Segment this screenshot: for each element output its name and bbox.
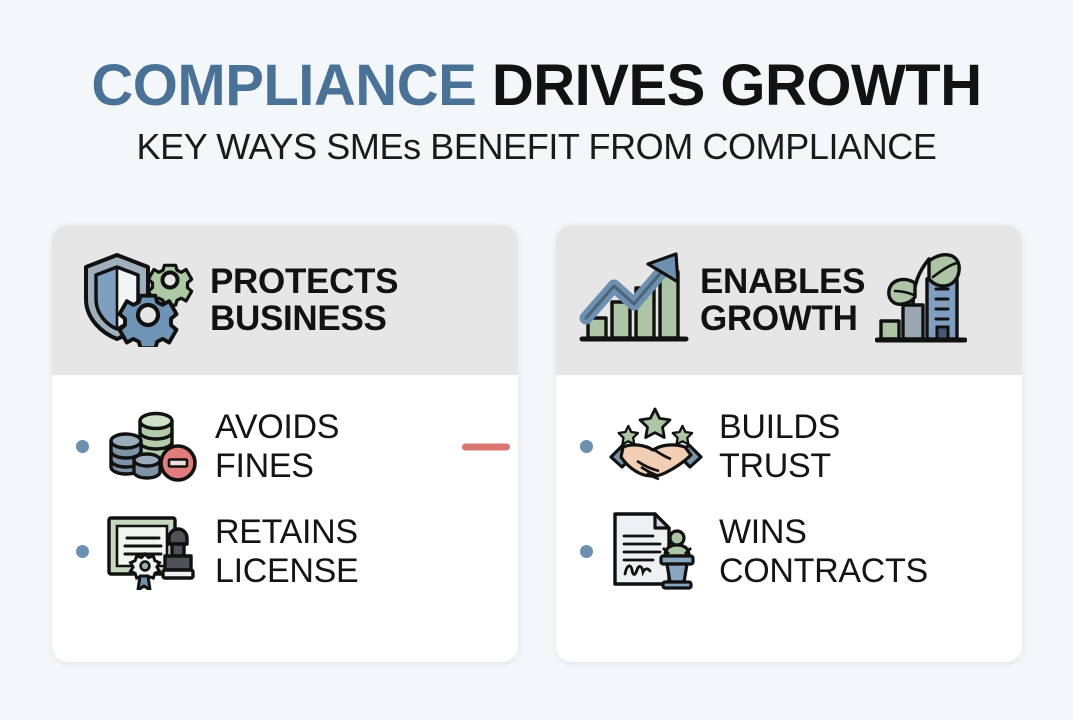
card-title-enables-growth: ENABLES GROWTH [700,263,865,337]
bullet-dot-icon [76,545,89,558]
handshake-stars-icon [607,403,705,490]
card-header-protects-business: PROTECTS BUSINESS [52,225,518,375]
benefit-cards-container: PROTECTS BUSINESS [52,225,1022,662]
card-body-protects-business: AVOIDS FINES [52,375,518,662]
dash-accent-divider [462,443,510,450]
bullet-dot-icon [580,545,593,558]
shield-gears-icon [74,249,200,352]
card-enables-growth: ENABLES GROWTH [556,225,1022,662]
benefit-label-builds-trust: BUILDS TRUST [719,408,840,484]
card-title-protects-business: PROTECTS BUSINESS [210,263,398,337]
card-header-enables-growth: ENABLES GROWTH [556,225,1022,375]
title-plain-words: DRIVES GROWTH [476,53,981,118]
benefit-row-wins-contracts[interactable]: WINS CONTRACTS [556,508,1022,595]
benefit-row-avoids-fines[interactable]: AVOIDS FINES [52,403,518,490]
coins-fine-icon [103,403,201,490]
page-subtitle: KEY WAYS SMEs BENEFIT FROM COMPLIANCE [0,128,1073,166]
bullet-dot-icon [580,440,593,453]
card-body-enables-growth: BUILDS TRUST [556,375,1022,662]
signed-contract-podium-icon [607,508,705,595]
page-heading: COMPLIANCE DRIVES GROWTH KEY WAYS SMEs B… [0,56,1073,166]
benefit-label-retains-license: RETAINS LICENSE [215,513,358,589]
benefit-row-builds-trust[interactable]: BUILDS TRUST [556,403,1022,490]
card-protects-business: PROTECTS BUSINESS [52,225,518,662]
plant-building-icon [875,249,967,352]
page-title: COMPLIANCE DRIVES GROWTH [0,56,1073,115]
benefit-row-retains-license[interactable]: RETAINS LICENSE [52,508,518,595]
benefit-label-avoids-fines: AVOIDS FINES [215,408,339,484]
title-accent-word: COMPLIANCE [91,53,476,118]
certificate-stamp-icon [103,508,201,595]
growth-chart-arrow-icon [578,248,690,353]
benefit-label-wins-contracts: WINS CONTRACTS [719,513,928,589]
bullet-dot-icon [76,440,89,453]
